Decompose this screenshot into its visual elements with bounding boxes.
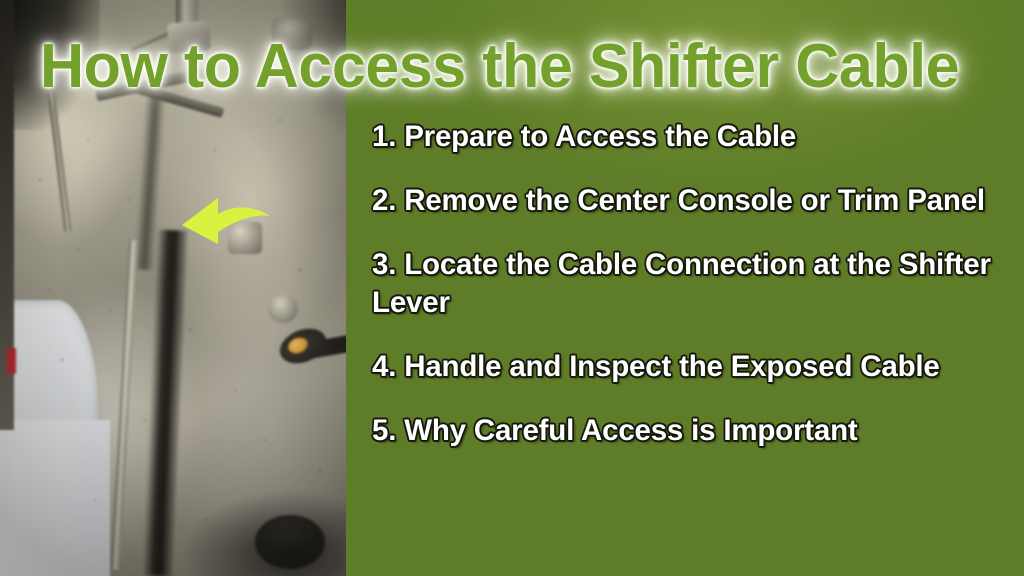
arrow-left-curved-icon [180, 192, 276, 248]
list-item: 4. Handle and Inspect the Exposed Cable [372, 348, 1020, 386]
page-title: How to Access the Shifter Cable [40, 34, 976, 100]
photo-metal-rod-upper [47, 92, 71, 232]
list-item: 3. Locate the Cable Connection at the Sh… [372, 246, 1020, 322]
photo-white-body-panel [0, 300, 98, 576]
photo-rubber-grommet [275, 322, 331, 370]
photo-bolt-head-right [268, 295, 298, 323]
photo-upper-seam [134, 90, 167, 271]
infographic-canvas: How to Access the Shifter Cable 1. Prepa… [0, 0, 1024, 576]
step-list: 1. Prepare to Access the Cable 2. Remove… [372, 118, 1020, 450]
photo-rubber-hose [307, 334, 346, 359]
photo-white-body-panel-lower [0, 420, 110, 576]
photo-grommet-orange-core [286, 335, 310, 356]
photo-red-marking [7, 348, 16, 374]
list-item: 2. Remove the Center Console or Trim Pan… [372, 182, 1020, 220]
list-item: 5. Why Careful Access is Important [372, 412, 1020, 450]
photo-threaded-stud [176, 0, 198, 32]
list-item: 1. Prepare to Access the Cable [372, 118, 1020, 156]
photo-dark-pulley [255, 515, 325, 569]
photo-center-seam [142, 230, 187, 576]
photo-shadow-bottom [180, 490, 346, 576]
photo-shifter-cable-rod [111, 240, 138, 570]
photo-left-dark-edge [0, 0, 14, 430]
